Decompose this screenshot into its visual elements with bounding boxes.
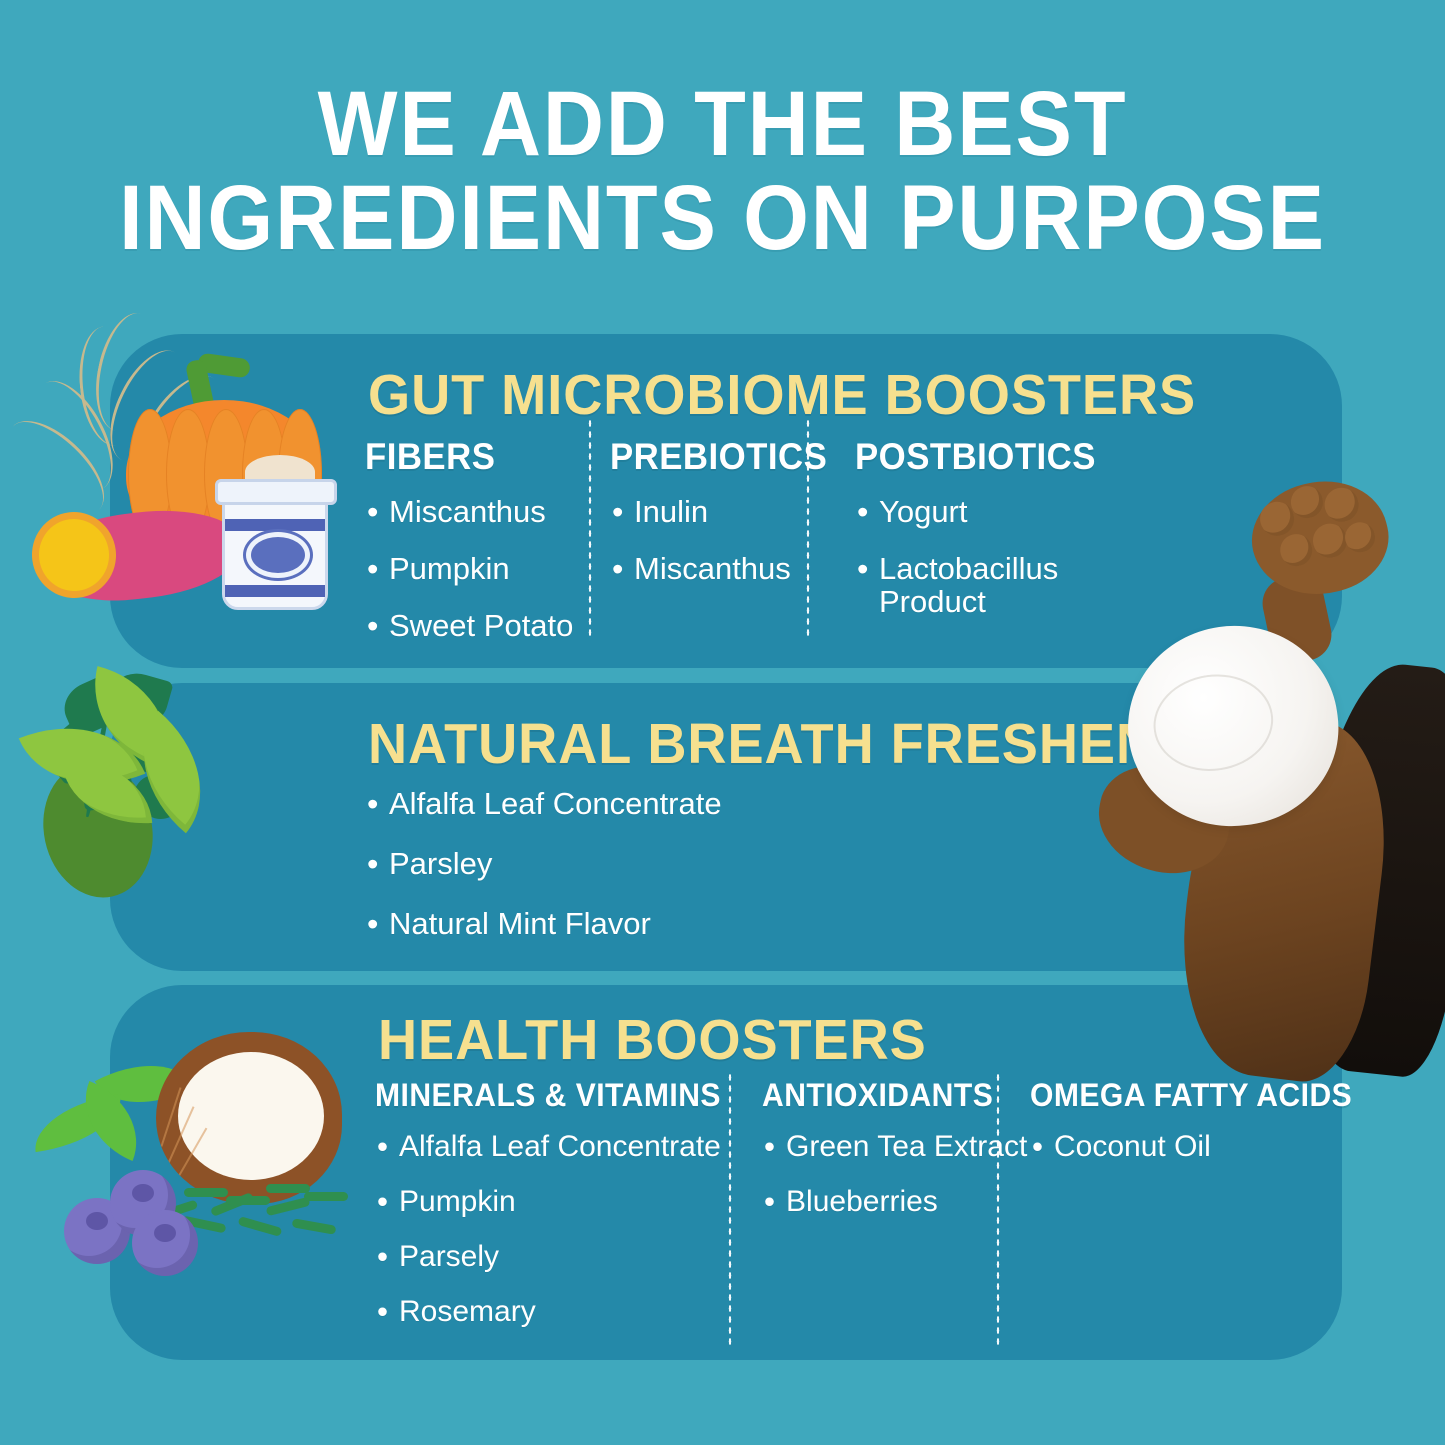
list-item: Pumpkin [375, 1185, 762, 1218]
column-prebiotics: PREBIOTICS Inulin Miscanthus [610, 436, 855, 667]
dog-paw-with-dental-chew-icon [1080, 468, 1445, 1068]
column-divider-dotted [588, 418, 592, 640]
card-gut-title: GUT MICROBIOME BOOSTERS [368, 362, 1196, 428]
column-fibers-list: Miscanthus Pumpkin Sweet Potato [365, 496, 610, 643]
page-title: WE ADD THE BEST INGREDIENTS ON PURPOSE [58, 78, 1387, 266]
parsley-mint-leaves-icon [30, 672, 360, 972]
column-breath-list: Alfalfa Leaf Concentrate Parsley Natural… [365, 788, 722, 941]
column-prebiotics-list: Inulin Miscanthus [610, 496, 855, 586]
card-health-title: HEALTH BOOSTERS [378, 1007, 927, 1073]
column-antioxidants: ANTIOXIDANTS Green Tea Extract Blueberri… [762, 1077, 1030, 1350]
list-item: Natural Mint Flavor [365, 908, 722, 941]
column-omega-fatty-acids: OMEGA FATTY ACIDS Coconut Oil [1030, 1077, 1330, 1350]
column-omega-fatty-acids-heading: OMEGA FATTY ACIDS [1030, 1077, 1312, 1114]
list-item: Inulin [610, 496, 855, 529]
dog-paw-top [1240, 467, 1399, 609]
list-item: Miscanthus [365, 496, 610, 529]
column-minerals-vitamins: MINERALS & VITAMINS Alfalfa Leaf Concent… [375, 1077, 762, 1350]
column-fibers-heading: FIBERS [365, 436, 595, 478]
list-item: Parsley [365, 848, 722, 881]
list-item: Alfalfa Leaf Concentrate [365, 788, 722, 821]
list-item: Blueberries [762, 1185, 1030, 1218]
page-title-line-1: WE ADD THE BEST [318, 73, 1128, 175]
list-item: Sweet Potato [365, 610, 610, 643]
infographic-canvas: WE ADD THE BEST INGREDIENTS ON PURPOSE G… [0, 0, 1445, 1445]
column-breath: Alfalfa Leaf Concentrate Parsley Natural… [365, 788, 722, 968]
list-item: Parsely [375, 1240, 762, 1273]
card-breath-columns: Alfalfa Leaf Concentrate Parsley Natural… [365, 788, 722, 968]
page-title-line-2: INGREDIENTS ON PURPOSE [58, 172, 1387, 266]
list-item: Alfalfa Leaf Concentrate [375, 1130, 762, 1163]
coconut-half-icon [156, 1032, 342, 1204]
column-postbiotics-heading: POSTBIOTICS [855, 436, 1118, 478]
pumpkin-sweet-potato-yogurt-icon [22, 312, 362, 642]
column-divider-dotted [806, 418, 810, 640]
list-item: Pumpkin [365, 553, 610, 586]
coconut-blueberry-rosemary-icon [24, 1022, 344, 1322]
column-minerals-vitamins-list: Alfalfa Leaf Concentrate Pumpkin Parsely… [375, 1130, 762, 1328]
column-antioxidants-list: Green Tea Extract Blueberries [762, 1130, 1030, 1218]
card-health-columns: MINERALS & VITAMINS Alfalfa Leaf Concent… [375, 1077, 1330, 1350]
blueberry-icon [132, 1210, 198, 1276]
column-minerals-vitamins-heading: MINERALS & VITAMINS [375, 1077, 739, 1114]
list-item: Green Tea Extract [762, 1130, 1030, 1163]
list-item: Coconut Oil [1030, 1130, 1330, 1163]
column-antioxidants-heading: ANTIOXIDANTS [762, 1077, 1014, 1114]
column-omega-fatty-acids-list: Coconut Oil [1030, 1130, 1330, 1163]
list-item: Rosemary [375, 1295, 762, 1328]
column-fibers: FIBERS Miscanthus Pumpkin Sweet Potato [365, 436, 610, 667]
column-divider-dotted [728, 1072, 732, 1345]
column-divider-dotted [996, 1072, 1000, 1345]
list-item: Miscanthus [610, 553, 855, 586]
yogurt-cup-icon [222, 490, 328, 610]
